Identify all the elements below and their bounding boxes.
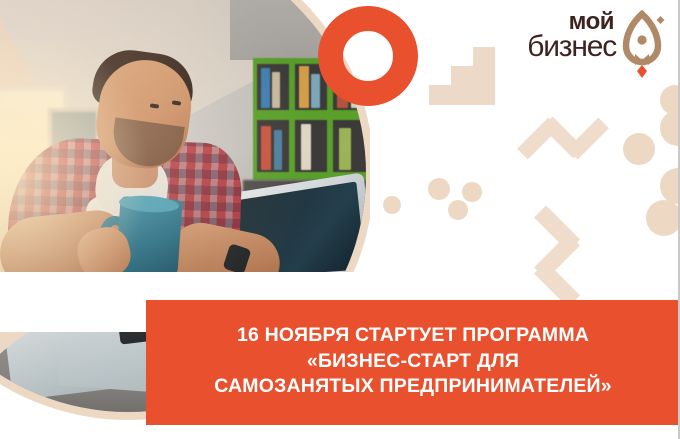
beige-dot: [623, 133, 655, 165]
bottom-white-strip: [0, 425, 680, 439]
beige-stairs: [429, 47, 495, 105]
logo-line-biznes: бизнес: [527, 32, 616, 62]
logo-moy-biznes[interactable]: мой бизнес: [512, 8, 670, 78]
beige-dot: [462, 182, 482, 202]
banner-text: 16 НОЯБРЯ СТАРТУЕТ ПРОГРАММА «БИЗНЕС-СТА…: [206, 323, 620, 403]
beige-dot: [660, 168, 680, 204]
beige-dot: [448, 200, 468, 220]
beige-dot: [646, 200, 680, 236]
rocket-icon: [616, 10, 668, 78]
beige-dot: [428, 178, 450, 200]
promo-poster: мой бизнес 16 НОЯБРЯ СТАРТУЕТ ПРОГРАММА …: [0, 0, 680, 439]
orange-ring: [318, 6, 418, 106]
beige-dot: [383, 196, 401, 214]
caption-banner: 16 НОЯБРЯ СТАРТУЕТ ПРОГРАММА «БИЗНЕС-СТА…: [146, 300, 680, 425]
beige-dot: [660, 110, 680, 146]
beige-dot: [660, 85, 680, 115]
